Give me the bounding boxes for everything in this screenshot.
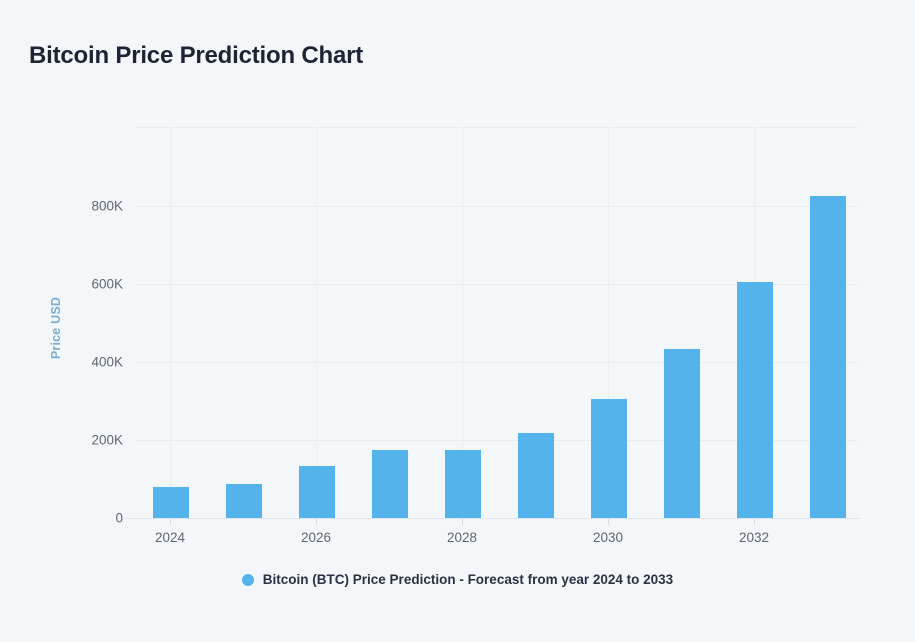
y-tick-label-400K: 400K <box>63 355 123 370</box>
x-tick-label-2028: 2028 <box>447 530 477 545</box>
x-tick-2028 <box>462 519 463 525</box>
x-tick-2032 <box>754 519 755 525</box>
x-tick-label-2030: 2030 <box>593 530 623 545</box>
y-axis-title: Price USD <box>49 297 63 359</box>
bars-layer <box>135 127 858 518</box>
y-tick-label-600K: 600K <box>63 277 123 292</box>
bar-2025[interactable] <box>226 484 262 518</box>
x-axis-line <box>126 518 860 519</box>
legend-marker-icon <box>242 574 254 586</box>
x-tick-label-2024: 2024 <box>155 530 185 545</box>
y-tick-label-200K: 200K <box>63 433 123 448</box>
bar-2029[interactable] <box>518 433 554 518</box>
x-tick-label-2032: 2032 <box>739 530 769 545</box>
bar-2033[interactable] <box>810 196 846 518</box>
y-tick-label-0: 0 <box>63 511 123 526</box>
bar-2028[interactable] <box>445 450 481 518</box>
y-tick-label-800K: 800K <box>63 199 123 214</box>
x-tick-label-2026: 2026 <box>301 530 331 545</box>
bar-chart: 800K 600K 400K 200K 0 2024 2026 2028 203… <box>0 0 915 642</box>
x-tick-2026 <box>316 519 317 525</box>
chart-page: Bitcoin Price Prediction Chart <box>0 0 915 642</box>
bar-2026[interactable] <box>299 466 335 518</box>
y-axis-labels: 800K 600K 400K 200K 0 <box>63 0 123 642</box>
bar-2030[interactable] <box>591 399 627 518</box>
x-tick-2024 <box>170 519 171 525</box>
bar-2027[interactable] <box>372 450 408 518</box>
chart-legend: Bitcoin (BTC) Price Prediction - Forecas… <box>0 572 915 587</box>
bar-2032[interactable] <box>737 282 773 518</box>
bar-2024[interactable] <box>153 487 189 518</box>
bar-2031[interactable] <box>664 349 700 518</box>
x-tick-2030 <box>608 519 609 525</box>
legend-item-label[interactable]: Bitcoin (BTC) Price Prediction - Forecas… <box>263 572 673 587</box>
